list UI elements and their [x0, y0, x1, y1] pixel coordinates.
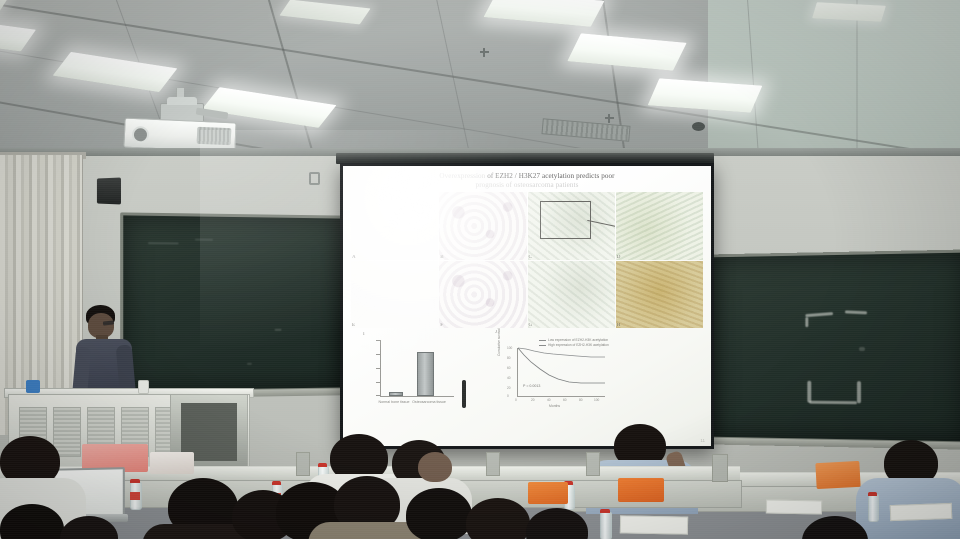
screen-surface: Overexpression of EZH2 / H3K27 acetylati… [343, 166, 711, 446]
ceiling-light-panel [0, 18, 36, 51]
slide-title: Overexpression of EZH2 / H3K27 acetylati… [351, 172, 703, 190]
audience-head [406, 488, 472, 539]
projector-lens-icon [132, 126, 150, 144]
blue-box-item [26, 380, 40, 393]
micrograph-panel: G [528, 261, 615, 329]
micrograph-panel: E [351, 261, 438, 329]
panel-label: A [352, 255, 356, 260]
bar-y-axis [380, 340, 381, 396]
wall-hook-icon [309, 172, 320, 185]
cup-item [138, 380, 149, 394]
handout-paper [890, 503, 953, 521]
projector-vent-grille [197, 127, 232, 145]
wall-speaker [97, 177, 121, 204]
blackboard-right [710, 249, 960, 444]
ceiling-light-panel [279, 0, 370, 24]
inset-region-box [540, 201, 591, 238]
bottle-label [130, 492, 140, 500]
panel-label: H [617, 323, 621, 328]
handout-paper [620, 515, 688, 534]
orange-tote-bag [528, 482, 568, 504]
bottle-cap [318, 463, 327, 467]
projection-screen: Overexpression of EZH2 / H3K27 acetylati… [340, 163, 714, 449]
audience-head [466, 498, 530, 539]
panel-label: I [363, 332, 365, 337]
water-bottle [868, 494, 879, 522]
bottle-cap [272, 481, 281, 485]
audience-head [526, 508, 588, 539]
lecture-hall-scene: Overexpression of EZH2 / H3K27 acetylati… [0, 0, 960, 539]
ceiling-speaker-icon [692, 122, 705, 131]
bar-category-label: Normal bone tissue [377, 400, 411, 404]
panel-label: G [529, 323, 533, 328]
km-curve-high [518, 348, 605, 383]
desk-divider [486, 452, 500, 476]
water-bottle [600, 512, 612, 539]
bar-normal [389, 392, 403, 396]
audience-head [418, 452, 452, 482]
orange-tote-bag [618, 478, 664, 502]
micrograph-panel: H [616, 261, 703, 329]
slide-content: Overexpression of EZH2 / H3K27 acetylati… [343, 166, 711, 446]
panel-label: B [440, 255, 443, 260]
survival-curve-panel: J Low expression of EZH2-H3K acetylation… [495, 334, 643, 414]
mic-stand [462, 380, 466, 408]
blackboard-left [120, 212, 344, 393]
bar-category-label: Osteosarcoma tissue [409, 400, 449, 404]
micrograph-panel: A [351, 192, 438, 260]
slide-title-faded: Overexpression [439, 172, 485, 180]
panel-label: E [352, 323, 355, 328]
handout-paper [766, 500, 822, 515]
sprinkler-head-icon [605, 114, 614, 123]
km-curve-low [518, 348, 605, 357]
ceiling-light-panel [483, 0, 604, 27]
bottle-cap [868, 492, 877, 496]
desk-divider [712, 454, 728, 482]
bottle-cap [600, 509, 610, 513]
desk-divider [296, 452, 310, 476]
panel-label: F [440, 323, 443, 328]
orange-tote-bag [815, 461, 860, 489]
ceiling-air-vent [541, 118, 630, 142]
micrograph-panel: C [528, 192, 615, 260]
micrograph-panel: F [439, 261, 526, 329]
slide-number: 11 [700, 438, 705, 443]
ceiling-light-panel [53, 52, 178, 92]
panel-label: D [617, 255, 621, 260]
panel-label: C [529, 255, 532, 260]
bar-x-axis [380, 396, 454, 397]
km-curves-svg [495, 334, 643, 414]
slide-title-line2: prognosis of osteosarcoma patients [476, 181, 579, 189]
micrograph-panel: D [616, 192, 703, 260]
inset-leader-line [587, 220, 615, 227]
bar-chart-panel: I Normal bone tissue Osteosarcoma tissue [363, 338, 459, 412]
micrograph-grid: A B C D E [351, 192, 703, 328]
white-bag [150, 452, 194, 474]
sprinkler-head-icon [480, 48, 489, 57]
bottle-cap [130, 479, 140, 483]
bar-osteosarcoma [417, 352, 434, 396]
micrograph-panel: B [439, 192, 526, 260]
slide-title-line1: of EZH2 / H3K27 acetylation predicts poo… [487, 172, 614, 180]
desk-divider [586, 452, 600, 476]
ceiling-light-panel [567, 33, 686, 70]
